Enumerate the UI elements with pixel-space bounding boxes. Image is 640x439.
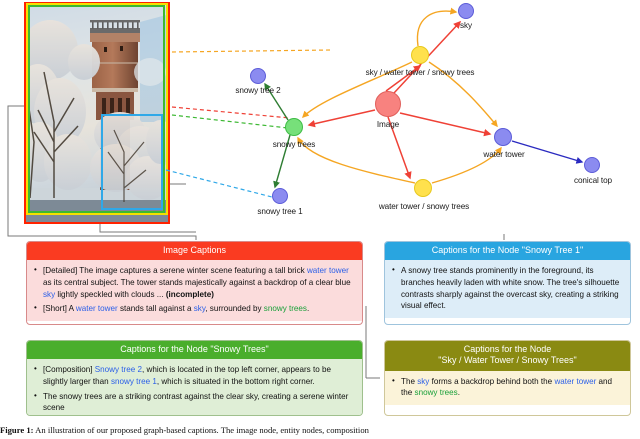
caption-title-snowy-trees: Captions for the Node "Snowy Trees" [27, 341, 362, 359]
caption-box-image-captions: Image Captions [Detailed] The image capt… [26, 241, 363, 325]
caption-body-snowy-trees: [Composition] Snowy tree 2, which is loc… [27, 359, 362, 416]
caption-text: lightly speckled with clouds ... [55, 290, 166, 299]
graph-node-composite-2[interactable] [414, 179, 432, 197]
figure-caption-label: Figure 1: [0, 425, 34, 435]
caption-text: The snowy trees are a striking contrast … [43, 392, 348, 413]
caption-entity-blue: sky [43, 290, 55, 299]
caption-list: The sky forms a backdrop behind both the… [392, 376, 623, 399]
caption-item-prefix: [Short] [43, 304, 67, 313]
figure-caption: Figure 1: An illustration of our propose… [0, 425, 640, 435]
caption-list: A snowy tree stands prominently in the f… [392, 265, 623, 312]
caption-text: forms a backdrop behind both the [429, 377, 554, 386]
caption-entity-blue: sky [194, 304, 206, 313]
graph-node-snowy-trees[interactable] [285, 118, 303, 136]
caption-text: , surrounded by [205, 304, 264, 313]
caption-text: as its central subject. The tower stands… [43, 278, 351, 287]
caption-text: The [401, 377, 417, 386]
caption-item: A snowy tree stands prominently in the f… [392, 265, 623, 312]
caption-title-image-captions: Image Captions [27, 242, 362, 260]
caption-item-prefix: [Detailed] [43, 266, 77, 275]
caption-body-snowy-tree-1: A snowy tree stands prominently in the f… [385, 260, 630, 318]
graph-label-composite-2: water tower / snowy trees [365, 202, 483, 211]
graph-node-composite-1[interactable] [411, 46, 429, 64]
caption-list: [Composition] Snowy tree 2, which is loc… [34, 364, 355, 414]
graph-label-sky: sky [446, 21, 486, 30]
caption-text: . [458, 388, 460, 397]
caption-entity-blue: water tower [307, 266, 349, 275]
graph-node-snowy-tree-1[interactable] [272, 188, 288, 204]
caption-item-prefix: [Composition] [43, 365, 92, 374]
graph-label-snowy-tree-2: snowy tree 2 [226, 86, 290, 95]
caption-body-sky-tower-trees: The sky forms a backdrop behind both the… [385, 371, 630, 405]
caption-text: stands tall against a [118, 304, 194, 313]
caption-text: The image captures a serene winter scene… [77, 266, 307, 275]
caption-list: [Detailed] The image captures a serene w… [34, 265, 355, 315]
edge-image-water-tower [400, 113, 490, 134]
caption-item: [Composition] Snowy tree 2, which is loc… [34, 364, 355, 387]
caption-title-line-1: Captions for the Node [387, 344, 628, 355]
figure-caption-text: An illustration of our proposed graph-ba… [34, 425, 369, 435]
caption-entity-blue: water tower [554, 377, 596, 386]
caption-entity-blue: snowy tree 1 [111, 377, 157, 386]
caption-item: The sky forms a backdrop behind both the… [392, 376, 623, 399]
caption-entity-blue: Snowy tree 2 [95, 365, 142, 374]
caption-title-sky-tower-trees: Captions for the Node "Sky / Water Tower… [385, 341, 630, 371]
caption-box-sky-water-tower-snowy-trees: Captions for the Node "Sky / Water Tower… [384, 340, 631, 416]
caption-text: A snowy tree stands prominently in the f… [401, 266, 619, 310]
caption-item: [Short] A water tower stands tall agains… [34, 303, 355, 315]
caption-text: A [67, 304, 76, 313]
caption-entity-blue: water tower [76, 304, 118, 313]
graph-edges [170, 0, 640, 228]
graph-label-snowy-trees: snowy trees [260, 140, 328, 149]
graph-label-snowy-tree-1: snowy tree 1 [248, 207, 312, 216]
caption-item: [Detailed] The image captures a serene w… [34, 265, 355, 300]
caption-title-line-2: "Sky / Water Tower / Snowy Trees" [387, 355, 628, 366]
graph-node-conical-top[interactable] [584, 157, 600, 173]
caption-title-snowy-tree-1: Captions for the Node "Snowy Tree 1" [385, 242, 630, 260]
caption-entity-blue: sky [417, 377, 429, 386]
caption-text: , which is situated in the bottom right … [157, 377, 315, 386]
caption-bold: (incomplete) [166, 290, 214, 299]
graph-node-image[interactable] [375, 91, 401, 117]
graph-label-conical-top: conical top [560, 176, 626, 185]
caption-body-image-captions: [Detailed] The image captures a serene w… [27, 260, 362, 321]
graph-label-water-tower: water tower [470, 150, 538, 159]
graph-label-composite-1: sky / water tower / snowy trees [350, 68, 490, 77]
caption-entity-green: snowy trees [415, 388, 458, 397]
graph-node-water-tower[interactable] [494, 128, 512, 146]
graph-label-image: Image [366, 120, 410, 129]
caption-box-snowy-tree-1: Captions for the Node "Snowy Tree 1" A s… [384, 241, 631, 325]
figure-root: Image sky sky / water tower / snowy tree… [0, 0, 640, 439]
caption-item: The snowy trees are a striking contrast … [34, 391, 355, 414]
caption-entity-green: snowy trees [264, 304, 307, 313]
graph-node-snowy-tree-2[interactable] [250, 68, 266, 84]
caption-text: . [307, 304, 309, 313]
caption-box-snowy-trees: Captions for the Node "Snowy Trees" [Com… [26, 340, 363, 416]
graph-node-sky[interactable] [458, 3, 474, 19]
graph-panel: Image sky sky / water tower / snowy tree… [170, 0, 640, 228]
